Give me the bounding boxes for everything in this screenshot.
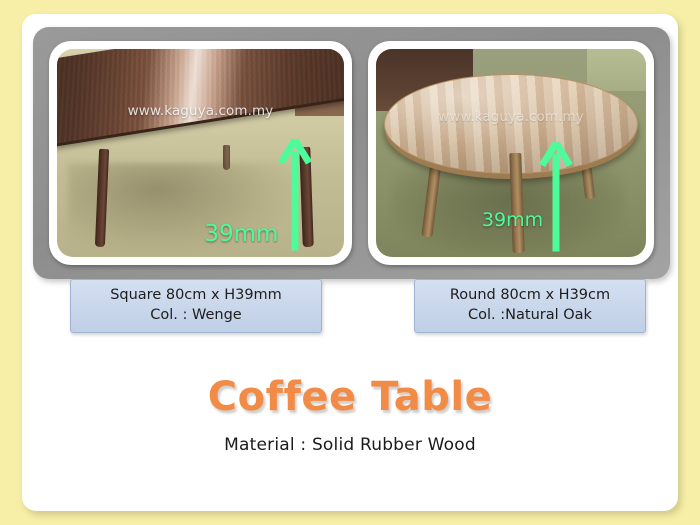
caption-line-2: Col. :Natural Oak bbox=[425, 306, 635, 326]
product-card: www.kaguya.com.my 39mm bbox=[22, 14, 678, 511]
photo-frame-round[interactable]: www.kaguya.com.my 39mm bbox=[368, 41, 654, 265]
background-wall-right bbox=[587, 49, 646, 91]
table-leg-rear bbox=[223, 145, 229, 170]
product-title: Coffee Table bbox=[22, 374, 678, 420]
product-material: Material : Solid Rubber Wood bbox=[22, 435, 678, 455]
table-leg-right bbox=[299, 147, 314, 247]
wood-grain-texture bbox=[57, 49, 344, 146]
caption-line-2: Col. : Wenge bbox=[81, 306, 311, 326]
round-table-photo: www.kaguya.com.my 39mm bbox=[376, 49, 646, 257]
photo-panel: www.kaguya.com.my 39mm bbox=[33, 27, 670, 279]
caption-round: Round 80cm x H39cm Col. :Natural Oak bbox=[414, 279, 646, 333]
caption-line-1: Square 80cm x H39mm bbox=[81, 286, 311, 306]
caption-square: Square 80cm x H39mm Col. : Wenge bbox=[70, 279, 322, 333]
caption-line-1: Round 80cm x H39cm bbox=[425, 286, 635, 306]
square-table-photo: www.kaguya.com.my 39mm bbox=[57, 49, 344, 257]
table-top-square bbox=[57, 49, 344, 149]
photo-frame-square[interactable]: www.kaguya.com.my 39mm bbox=[49, 41, 352, 265]
